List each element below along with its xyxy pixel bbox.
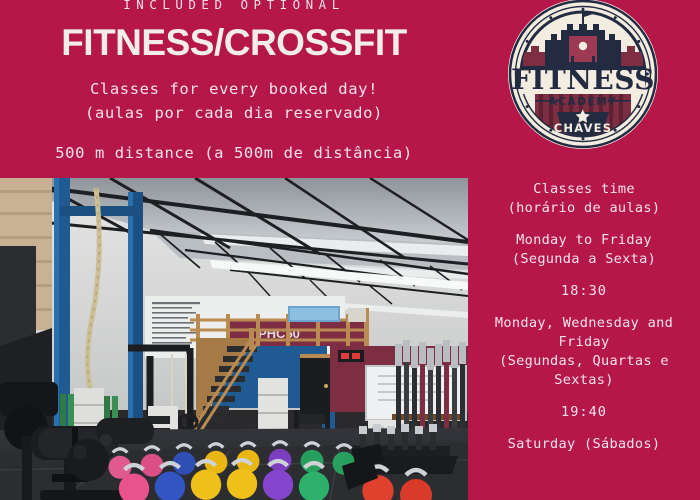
- schedule-block-1: Monday to Friday (Segunda a Sexta) 18:30: [472, 231, 696, 301]
- logo-chaves-banner: CHAVES: [554, 109, 612, 136]
- schedule-time-2: 19:40: [472, 403, 696, 422]
- gym-photo: PHC50: [0, 178, 468, 500]
- schedule-days-pt-1: (Segunda a Sexta): [472, 250, 696, 269]
- schedule-days-en-1: Monday to Friday: [472, 231, 696, 250]
- logo-academy-line: ACADEMY: [535, 96, 631, 108]
- schedule-block-2: Monday, Wednesday and Friday (Segundas, …: [472, 314, 696, 422]
- distance-text: 500 m distance (a 500m de distância): [0, 144, 468, 162]
- schedule-days-pt-2: (Segundas, Quartas e Sextas): [472, 352, 696, 390]
- schedule-time-1: 18:30: [472, 282, 696, 301]
- logo-fitness-text: FITNESS: [511, 63, 655, 96]
- subtitle-english: Classes for every booked day!: [0, 80, 468, 98]
- schedule-heading-pt: (horário de aulas): [472, 199, 696, 218]
- schedule-block-3: Saturday (Sábados): [472, 435, 696, 454]
- poster-root: INCLUDED OPTIONAL FITNESS/CROSSFIT Class…: [0, 0, 700, 500]
- slam-ball: [67, 439, 109, 481]
- schedule-days-en-2: Monday, Wednesday and Friday: [472, 314, 696, 352]
- page-title: FITNESS/CROSSFIT: [0, 22, 468, 64]
- schedule-days-en-3: Saturday (Sábados): [472, 435, 696, 454]
- fitness-academy-logo: FITNESS ACADEMY CHAVES: [505, 0, 661, 152]
- schedule-heading-en: Classes time: [472, 180, 696, 199]
- logo-academy-text: ACADEMY: [548, 96, 617, 108]
- schedule-column: Classes time (horário de aulas) Monday t…: [472, 180, 696, 454]
- subtitle-portuguese: (aulas por cada dia reservado): [0, 104, 468, 122]
- logo-chaves-text: CHAVES: [554, 121, 612, 135]
- schedule-heading: Classes time (horário de aulas): [472, 180, 696, 218]
- kicker-text: INCLUDED OPTIONAL: [0, 0, 468, 12]
